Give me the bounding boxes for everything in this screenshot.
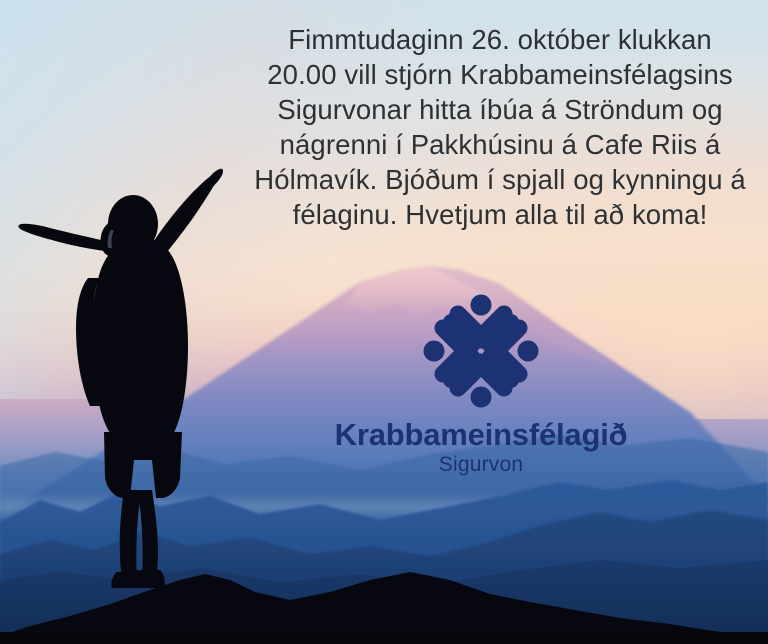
hiker-silhouette-arms-raised [0,160,270,600]
logo-subname: Sigurvon [326,453,636,477]
logo-wordmark: Krabbameinsfélagið [326,418,636,452]
organization-logo: Krabbameinsfélagið Sigurvon [326,292,636,477]
poster-canvas: Fimmtudaginn 26. október klukkan 20.00 v… [0,0,768,644]
announcement-text: Fimmtudaginn 26. október klukkan 20.00 v… [248,22,752,232]
four-people-cross-logo-icon [421,292,541,410]
